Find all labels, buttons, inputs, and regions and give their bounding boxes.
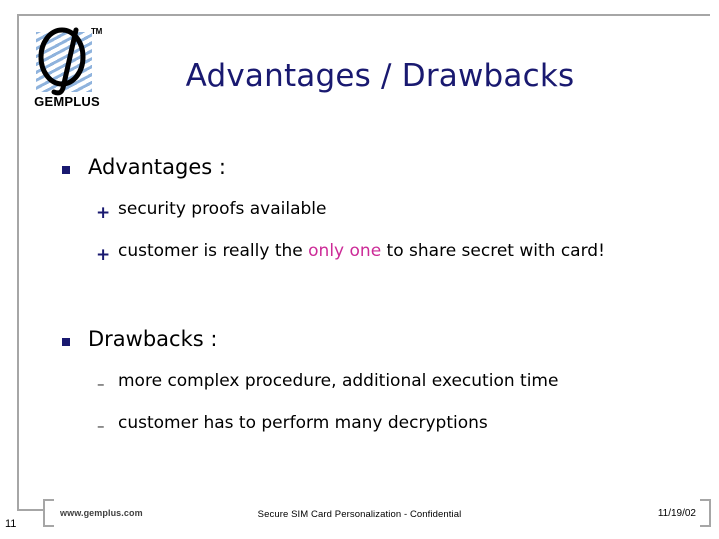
section-heading-label: Drawbacks : [88,327,217,351]
list-item-text: more complex procedure, additional execu… [118,371,558,391]
list-item-text: customer is really the [118,241,308,261]
logo-g-glyph-icon [30,26,104,96]
list-item-label: customer is really the only one to share… [118,241,605,261]
dash-bullet-icon: – [97,372,105,396]
square-bullet-icon [62,166,70,174]
list-item: + security proofs available [0,194,719,236]
dash-bullet-icon: – [97,414,105,438]
square-bullet-icon [62,338,70,346]
footer-confidentiality-notice: Secure SIM Card Personalization - Confid… [0,509,719,520]
list-item-text-tail: to share secret with card! [381,241,605,261]
trademark-icon: TM [91,27,102,36]
section-spacer [0,278,719,322]
highlighted-text: only one [308,241,381,261]
list-item-text: security proofs available [118,199,326,219]
section-heading-label: Advantages : [88,155,226,179]
page-title: Advantages / Drawbacks [120,58,640,94]
section-heading-drawbacks: Drawbacks : [0,322,719,364]
list-item: – customer has to perform many decryptio… [0,408,719,450]
page-number: 11 [5,518,16,530]
section-heading-advantages: Advantages : [0,150,719,192]
frame-top-line [17,14,710,16]
logo-wordmark: GEMPLUS [30,94,104,109]
footer-date: 11/19/02 [658,508,696,519]
plus-bullet-icon: + [96,244,110,266]
list-item: + customer is really the only one to sha… [0,236,719,278]
plus-bullet-icon: + [96,202,110,224]
list-item-label: security proofs available [118,199,326,219]
list-item-label: customer has to perform many decryptions [118,413,488,433]
list-item-label: more complex procedure, additional execu… [118,371,558,391]
slide-body: Advantages : + security proofs available… [0,150,719,450]
gemplus-logo: TM GEMPLUS [30,26,104,114]
list-item-text: customer has to perform many decryptions [118,413,488,433]
slide-canvas: TM GEMPLUS Advantages / Drawbacks Advant… [0,0,719,539]
list-item: – more complex procedure, additional exe… [0,366,719,408]
